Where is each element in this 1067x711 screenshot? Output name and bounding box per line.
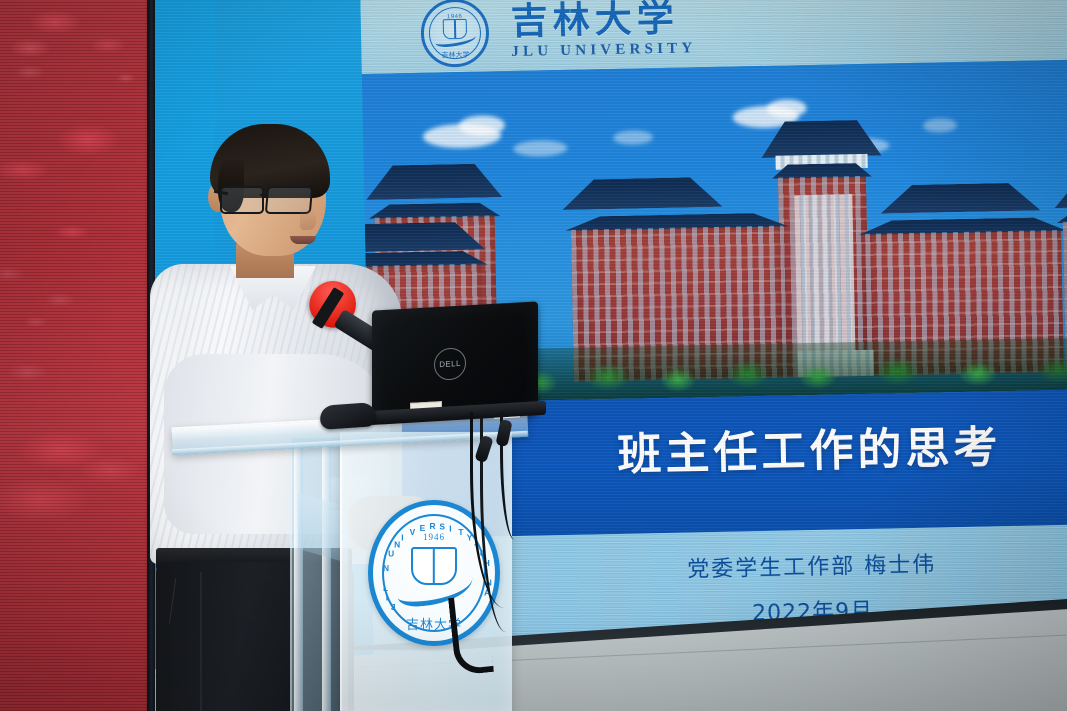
brand-name-english: JLU UNIVERSITY xyxy=(511,40,696,61)
glasses-bridge xyxy=(260,194,268,196)
brand-text-block: 吉林大学 JLU UNIVERSITY xyxy=(510,0,696,61)
university-branding: 1946 吉林大学 吉林大学 JLU UNIVERSITY xyxy=(420,0,696,67)
tower-window-strip xyxy=(794,194,855,355)
far-right-roof xyxy=(1054,176,1067,209)
cloud xyxy=(766,99,806,118)
lectern-panel-seam xyxy=(340,432,342,711)
seal-chinese-name: 吉林大学 xyxy=(441,50,469,61)
left-wing-roof xyxy=(562,177,723,210)
emblem-year: 1946 xyxy=(423,532,445,542)
led-scanlines xyxy=(0,0,150,711)
right-wing-roof xyxy=(880,182,1041,213)
lectern-leg xyxy=(294,444,303,711)
speaker-mouth xyxy=(290,236,316,244)
cloud xyxy=(613,130,653,145)
cloud xyxy=(923,118,957,133)
dell-wordmark: DELL xyxy=(439,359,461,369)
wireless-presenter-remote[interactable] xyxy=(319,402,377,430)
red-led-panel xyxy=(0,0,150,711)
lectern-leg xyxy=(322,444,331,711)
cloud xyxy=(513,140,567,157)
glasses-left-lens xyxy=(220,186,264,214)
presentation-photo-scene: 1946 吉林大学 吉林大学 JLU UNIVERSITY xyxy=(0,0,1067,711)
brand-name-chinese: 吉林大学 xyxy=(510,0,696,40)
speaker-nose xyxy=(300,208,316,230)
jlu-seal-icon: 1946 吉林大学 xyxy=(420,0,489,68)
